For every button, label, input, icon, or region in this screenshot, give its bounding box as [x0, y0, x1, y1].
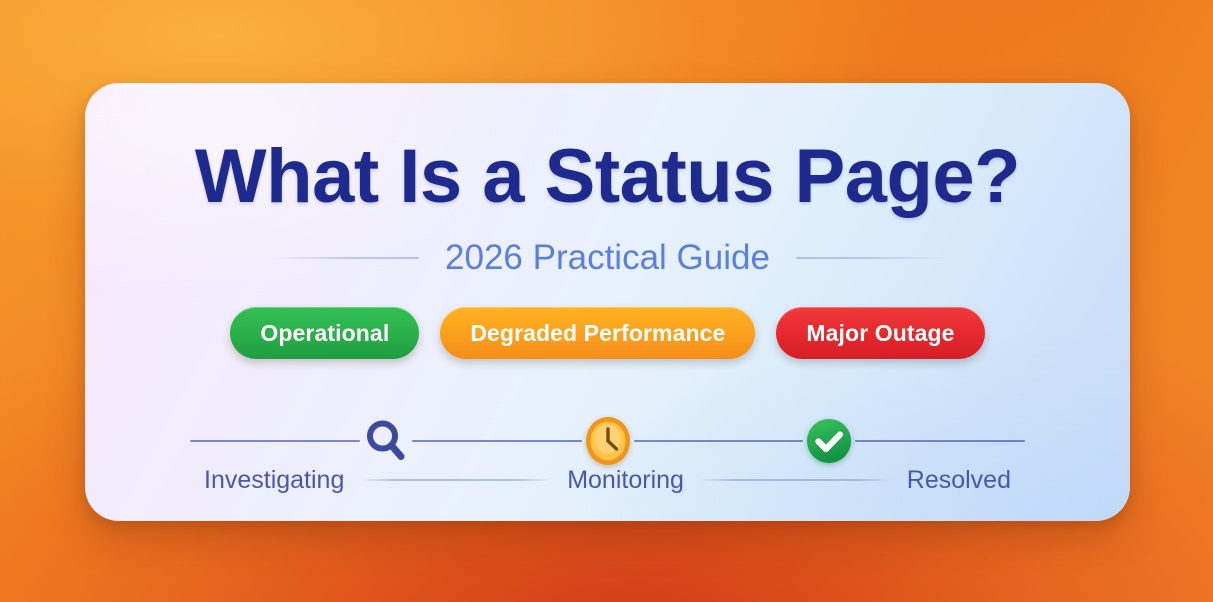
label-connector-one — [360, 479, 551, 481]
status-page-card: What Is a Status Page? 2026 Practical Gu… — [85, 83, 1130, 521]
status-badge-operational[interactable]: Operational — [230, 307, 419, 359]
timeline-segment-two — [634, 440, 804, 442]
page-title: What Is a Status Page? — [85, 135, 1130, 219]
timeline-track — [190, 415, 1025, 467]
incident-timeline: Investigating Monitoring Resolved — [190, 395, 1025, 499]
poster-canvas: What Is a Status Page? 2026 Practical Gu… — [0, 0, 1213, 602]
timeline-label-investigating: Investigating — [204, 465, 344, 495]
status-badge-major-outage[interactable]: Major Outage — [776, 307, 984, 359]
timeline-label-resolved: Resolved — [907, 465, 1011, 495]
clock-icon — [584, 416, 632, 466]
status-badge-degraded-performance[interactable]: Degraded Performance — [440, 307, 755, 359]
label-connector-two — [700, 479, 891, 481]
timeline-segment-one — [412, 440, 582, 442]
timeline-node-investigating[interactable] — [360, 415, 412, 467]
check-circle-icon — [805, 417, 853, 465]
subtitle-rule-right — [796, 257, 946, 259]
timeline-node-resolved[interactable] — [803, 415, 855, 467]
card-content: What Is a Status Page? 2026 Practical Gu… — [85, 83, 1130, 521]
page-subtitle: 2026 Practical Guide — [445, 238, 770, 278]
subtitle-row: 2026 Practical Guide — [85, 235, 1130, 281]
status-badge-group: Operational Degraded Performance Major O… — [85, 306, 1130, 360]
subtitle-rule-left — [269, 257, 419, 259]
timeline-label-monitoring: Monitoring — [567, 465, 684, 495]
timeline-labels: Investigating Monitoring Resolved — [190, 461, 1025, 499]
timeline-segment-start — [190, 440, 360, 442]
timeline-node-monitoring[interactable] — [582, 415, 634, 467]
timeline-segment-end — [855, 440, 1025, 442]
magnifier-icon — [364, 418, 408, 464]
